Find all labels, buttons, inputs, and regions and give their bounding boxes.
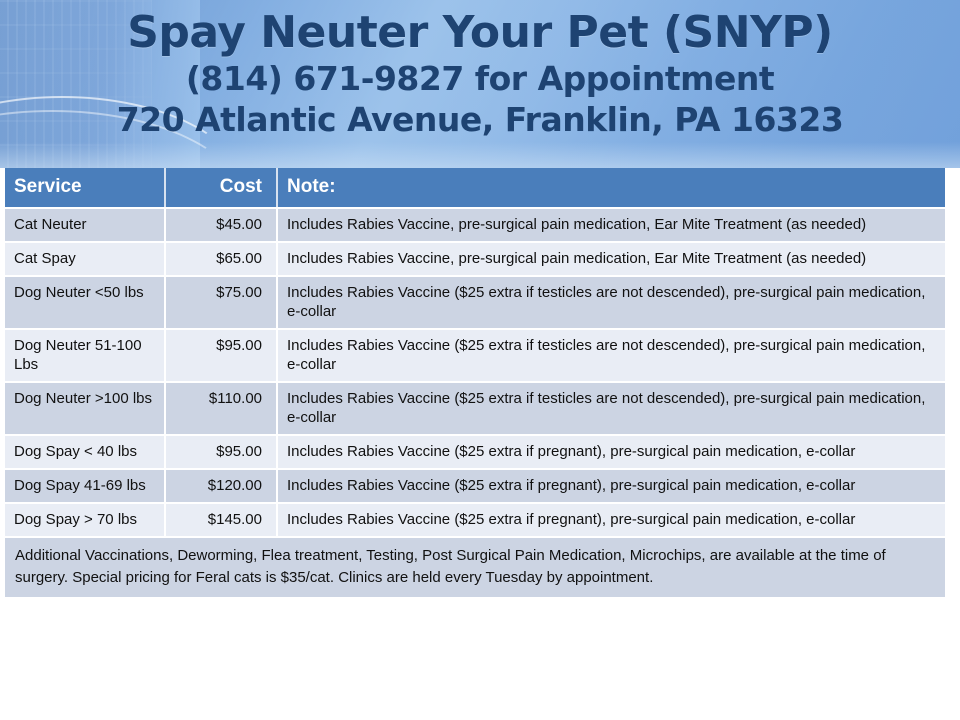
price-table: Service Cost Note: Cat Neuter$45.00Inclu… [5,168,945,597]
cell-service: Cat Spay [5,242,165,276]
table-footer-row: Additional Vaccinations, Deworming, Flea… [5,537,945,597]
cell-cost: $120.00 [165,469,277,503]
table-row: Dog Spay < 40 lbs$95.00Includes Rabies V… [5,435,945,469]
cell-service: Dog Spay 41-69 lbs [5,469,165,503]
address-line: 720 Atlantic Avenue, Franklin, PA 16323 [0,99,960,140]
cell-cost: $65.00 [165,242,277,276]
price-table-foot: Additional Vaccinations, Deworming, Flea… [5,537,945,597]
cell-note: Includes Rabies Vaccine ($25 extra if te… [277,382,945,435]
column-header-note: Note: [277,168,945,208]
price-table-head: Service Cost Note: [5,168,945,208]
table-row: Dog Spay 41-69 lbs$120.00Includes Rabies… [5,469,945,503]
table-row: Cat Spay$65.00Includes Rabies Vaccine, p… [5,242,945,276]
table-row: Dog Neuter >100 lbs$110.00Includes Rabie… [5,382,945,435]
cell-cost: $95.00 [165,329,277,382]
cell-note: Includes Rabies Vaccine ($25 extra if pr… [277,435,945,469]
cell-cost: $95.00 [165,435,277,469]
column-header-service: Service [5,168,165,208]
header-banner: Spay Neuter Your Pet (SNYP) (814) 671-98… [0,0,960,168]
cell-note: Includes Rabies Vaccine ($25 extra if pr… [277,469,945,503]
price-table-body: Cat Neuter$45.00Includes Rabies Vaccine,… [5,208,945,537]
cell-service: Dog Neuter 51-100 Lbs [5,329,165,382]
column-header-cost: Cost [165,168,277,208]
cell-service: Dog Spay < 40 lbs [5,435,165,469]
price-table-wrapper: Service Cost Note: Cat Neuter$45.00Inclu… [5,168,945,597]
cell-note: Includes Rabies Vaccine ($25 extra if pr… [277,503,945,537]
slide-canvas: Spay Neuter Your Pet (SNYP) (814) 671-98… [0,0,960,720]
cell-service: Dog Neuter >100 lbs [5,382,165,435]
cell-cost: $45.00 [165,208,277,242]
cell-note: Includes Rabies Vaccine ($25 extra if te… [277,276,945,329]
cell-cost: $75.00 [165,276,277,329]
cell-service: Cat Neuter [5,208,165,242]
banner-text-block: Spay Neuter Your Pet (SNYP) (814) 671-98… [0,0,960,168]
table-header-row: Service Cost Note: [5,168,945,208]
footer-note: Additional Vaccinations, Deworming, Flea… [5,537,945,597]
table-row: Dog Spay > 70 lbs$145.00Includes Rabies … [5,503,945,537]
cell-cost: $145.00 [165,503,277,537]
cell-service: Dog Spay > 70 lbs [5,503,165,537]
table-row: Dog Neuter <50 lbs$75.00Includes Rabies … [5,276,945,329]
appointment-phone-line: (814) 671-9827 for Appointment [0,58,960,99]
cell-note: Includes Rabies Vaccine, pre-surgical pa… [277,208,945,242]
cell-note: Includes Rabies Vaccine, pre-surgical pa… [277,242,945,276]
table-row: Cat Neuter$45.00Includes Rabies Vaccine,… [5,208,945,242]
cell-service: Dog Neuter <50 lbs [5,276,165,329]
cell-cost: $110.00 [165,382,277,435]
organization-title: Spay Neuter Your Pet (SNYP) [0,0,960,58]
table-row: Dog Neuter 51-100 Lbs$95.00Includes Rabi… [5,329,945,382]
cell-note: Includes Rabies Vaccine ($25 extra if te… [277,329,945,382]
